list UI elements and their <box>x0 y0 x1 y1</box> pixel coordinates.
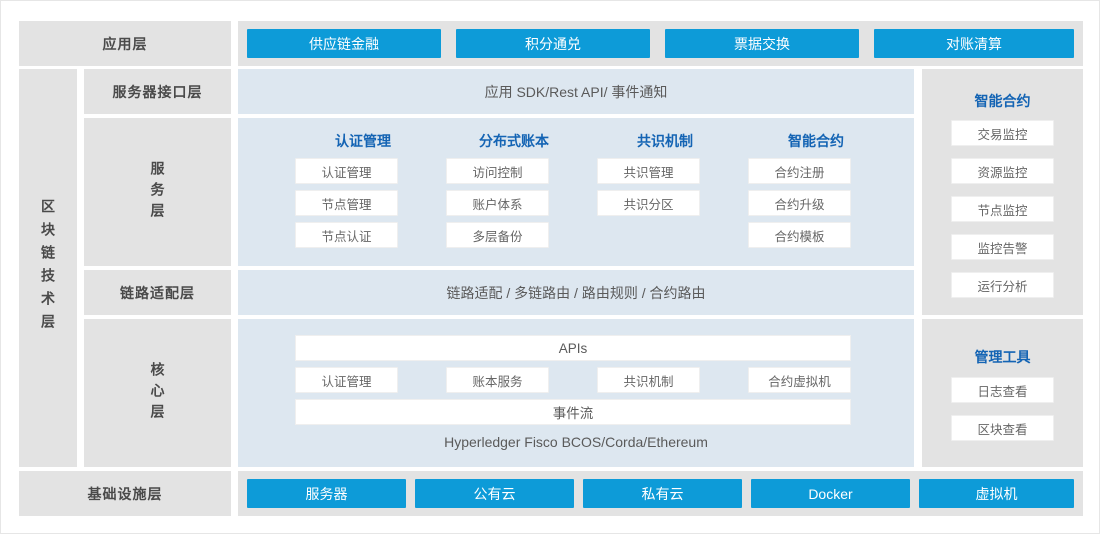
service-group-3-item-0-label: 合约注册 <box>774 162 824 181</box>
service-group-3-item-1[interactable]: 合约升级 <box>748 190 851 216</box>
right-panel-0-item-0[interactable]: 交易监控 <box>951 120 1054 146</box>
service-group-0-title-text: 认证管理 <box>335 133 391 149</box>
right-panel-0-item-1-label: 资源监控 <box>977 162 1027 181</box>
service-group-2-item-1[interactable]: 共识分区 <box>597 190 700 216</box>
server-interface-layer-label: 服务器接口层 <box>113 82 203 102</box>
application-layer-label-box: 应用层 <box>19 21 231 66</box>
right-panel-1-item-1[interactable]: 区块查看 <box>951 415 1054 441</box>
right-panel-1-item-1-label: 区块查看 <box>977 419 1027 438</box>
service-group-0-item-0-label: 认证管理 <box>321 162 371 181</box>
link-adaptation-layer-label: 链路适配层 <box>120 283 195 303</box>
service-group-1-title-text: 分布式账本 <box>479 133 549 149</box>
core-apis-bar[interactable]: APIs <box>295 335 851 361</box>
infrastructure-layer-items-panel: 服务器 公有云 私有云 Docker 虚拟机 <box>238 471 1083 516</box>
service-layer-label: 服务层 <box>151 161 165 224</box>
right-panel-0-title-text: 智能合约 <box>975 93 1031 109</box>
core-layer-label: 核心层 <box>151 362 165 425</box>
right-panel-1-title-text: 管理工具 <box>975 349 1031 365</box>
app-item-3[interactable]: 对账清算 <box>874 29 1074 58</box>
service-group-2-item-1-label: 共识分区 <box>623 194 673 213</box>
right-panel-management-tools: 管理工具 日志查看 区块查看 <box>922 319 1083 467</box>
core-footer-text: Hyperledger Fisco BCOS/Corda/Ethereum <box>444 434 708 450</box>
right-panel-0-item-3[interactable]: 监控告警 <box>951 234 1054 260</box>
service-group-3-title-text: 智能合约 <box>788 133 844 149</box>
right-panel-0-item-4[interactable]: 运行分析 <box>951 272 1054 298</box>
blockchain-tech-layer-vertical-label-box: 区块链技术层 <box>19 69 77 467</box>
service-layer-label-box: 服务层 <box>84 118 231 266</box>
service-group-1-item-2-label: 多层备份 <box>472 226 522 245</box>
infra-item-4-label: 虚拟机 <box>976 484 1018 504</box>
service-layer-panel: 认证管理 认证管理 节点管理 节点认证 分布式账本 访问控制 账户体系 多层备份… <box>238 118 914 266</box>
infra-item-3[interactable]: Docker <box>751 479 910 508</box>
application-layer-items-panel: 供应链金融 积分通兑 票据交换 对账清算 <box>238 21 1083 66</box>
service-group-1-title: 分布式账本 <box>434 131 594 151</box>
right-panel-1-item-0[interactable]: 日志查看 <box>951 377 1054 403</box>
service-group-0-item-2-label: 节点认证 <box>321 226 371 245</box>
service-group-2-item-0[interactable]: 共识管理 <box>597 158 700 184</box>
service-group-0-item-2[interactable]: 节点认证 <box>295 222 398 248</box>
application-layer-label: 应用层 <box>103 34 148 54</box>
app-item-3-label: 对账清算 <box>946 34 1002 54</box>
blockchain-tech-layer-label: 区块链技术层 <box>41 199 55 337</box>
service-group-0-title: 认证管理 <box>288 131 438 151</box>
infrastructure-layer-label: 基础设施层 <box>88 484 163 504</box>
service-group-1-item-0-label: 访问控制 <box>472 162 522 181</box>
infra-item-3-label: Docker <box>808 486 852 502</box>
link-adaptation-layer-band-text: 链路适配 / 多链路由 / 路由规则 / 合约路由 <box>446 283 705 303</box>
core-module-3[interactable]: 合约虚拟机 <box>748 367 851 393</box>
service-group-3-item-0[interactable]: 合约注册 <box>748 158 851 184</box>
infra-item-1-label: 公有云 <box>474 484 516 504</box>
service-group-3-item-1-label: 合约升级 <box>774 194 824 213</box>
service-group-1-item-2[interactable]: 多层备份 <box>446 222 549 248</box>
service-group-1-item-1[interactable]: 账户体系 <box>446 190 549 216</box>
infra-item-0[interactable]: 服务器 <box>247 479 406 508</box>
service-group-1-item-1-label: 账户体系 <box>472 194 522 213</box>
infra-item-2[interactable]: 私有云 <box>583 479 742 508</box>
core-module-1[interactable]: 账本服务 <box>446 367 549 393</box>
core-footer-text-box: Hyperledger Fisco BCOS/Corda/Ethereum <box>238 429 914 455</box>
link-adaptation-layer-label-box: 链路适配层 <box>84 270 231 315</box>
app-item-1[interactable]: 积分通兑 <box>456 29 650 58</box>
infra-item-4[interactable]: 虚拟机 <box>919 479 1074 508</box>
right-panel-0-item-0-label: 交易监控 <box>977 124 1027 143</box>
core-module-1-label: 账本服务 <box>472 371 522 390</box>
core-event-bar[interactable]: 事件流 <box>295 399 851 425</box>
service-group-0-item-0[interactable]: 认证管理 <box>295 158 398 184</box>
service-group-2-item-0-label: 共识管理 <box>623 162 673 181</box>
app-item-2-label: 票据交换 <box>734 34 790 54</box>
right-panel-1-title: 管理工具 <box>922 347 1083 367</box>
right-panel-0-item-1[interactable]: 资源监控 <box>951 158 1054 184</box>
service-group-2-title: 共识机制 <box>585 131 745 151</box>
server-interface-layer-band: 应用 SDK/Rest API/ 事件通知 <box>238 69 914 114</box>
infra-item-0-label: 服务器 <box>306 484 348 504</box>
app-item-2[interactable]: 票据交换 <box>665 29 859 58</box>
core-module-2-label: 共识机制 <box>623 371 673 390</box>
right-panel-0-item-2[interactable]: 节点监控 <box>951 196 1054 222</box>
infra-item-2-label: 私有云 <box>642 484 684 504</box>
service-group-0-item-1[interactable]: 节点管理 <box>295 190 398 216</box>
right-panel-0-item-3-label: 监控告警 <box>977 238 1027 257</box>
right-panel-0-item-4-label: 运行分析 <box>977 276 1027 295</box>
core-module-0-label: 认证管理 <box>321 371 371 390</box>
core-layer-panel: APIs 认证管理 账本服务 共识机制 合约虚拟机 事件流 Hyperledge… <box>238 319 914 467</box>
service-group-3-title: 智能合约 <box>736 131 896 151</box>
right-panel-smart-contract: 智能合约 交易监控 资源监控 节点监控 监控告警 运行分析 <box>922 69 1083 315</box>
core-module-2[interactable]: 共识机制 <box>597 367 700 393</box>
core-event-bar-label: 事件流 <box>553 402 594 422</box>
server-interface-layer-band-text: 应用 SDK/Rest API/ 事件通知 <box>485 82 668 102</box>
right-panel-0-title: 智能合约 <box>922 91 1083 111</box>
service-group-2-title-text: 共识机制 <box>637 133 693 149</box>
core-apis-bar-label: APIs <box>559 341 588 356</box>
infra-item-1[interactable]: 公有云 <box>415 479 574 508</box>
service-group-3-item-2-label: 合约模板 <box>774 226 824 245</box>
core-module-3-label: 合约虚拟机 <box>768 371 831 390</box>
service-group-1-item-0[interactable]: 访问控制 <box>446 158 549 184</box>
service-group-0-item-1-label: 节点管理 <box>321 194 371 213</box>
server-interface-layer-label-box: 服务器接口层 <box>84 69 231 114</box>
app-item-0[interactable]: 供应链金融 <box>247 29 441 58</box>
app-item-0-label: 供应链金融 <box>309 34 379 54</box>
link-adaptation-layer-band: 链路适配 / 多链路由 / 路由规则 / 合约路由 <box>238 270 914 315</box>
core-layer-label-box: 核心层 <box>84 319 231 467</box>
right-panel-1-item-0-label: 日志查看 <box>977 381 1027 400</box>
right-panel-0-item-2-label: 节点监控 <box>977 200 1027 219</box>
infrastructure-layer-label-box: 基础设施层 <box>19 471 231 516</box>
architecture-diagram: 应用层 供应链金融 积分通兑 票据交换 对账清算 区块链技术层 服务器接口层 应… <box>0 0 1100 534</box>
core-module-0[interactable]: 认证管理 <box>295 367 398 393</box>
app-item-1-label: 积分通兑 <box>525 34 581 54</box>
service-group-3-item-2[interactable]: 合约模板 <box>748 222 851 248</box>
